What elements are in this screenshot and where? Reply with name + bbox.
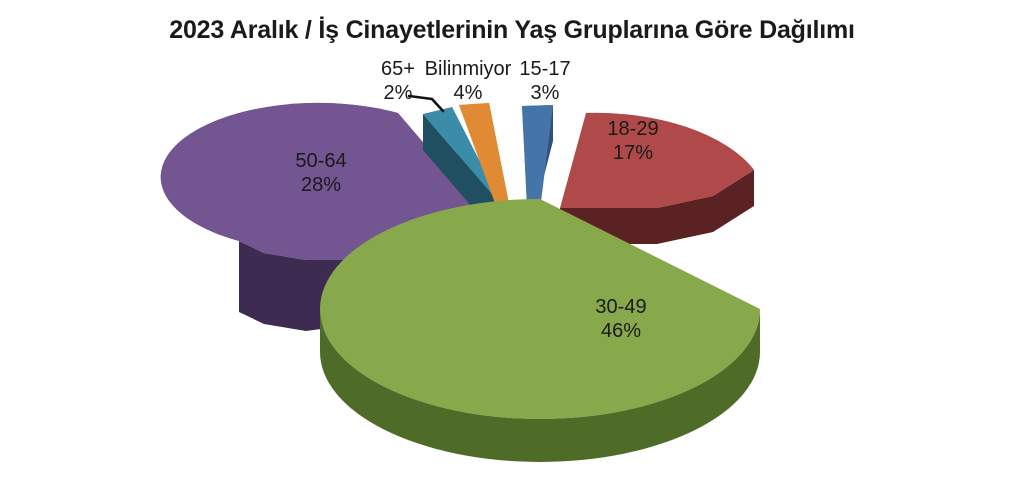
pie-slice-30-49[interactable] bbox=[320, 199, 760, 462]
pie-chart-graphic bbox=[0, 0, 1024, 481]
leader-line-65plus bbox=[409, 96, 443, 111]
pie-chart-figure: 2023 Aralık / İş Cinayetlerinin Yaş Grup… bbox=[0, 0, 1024, 481]
